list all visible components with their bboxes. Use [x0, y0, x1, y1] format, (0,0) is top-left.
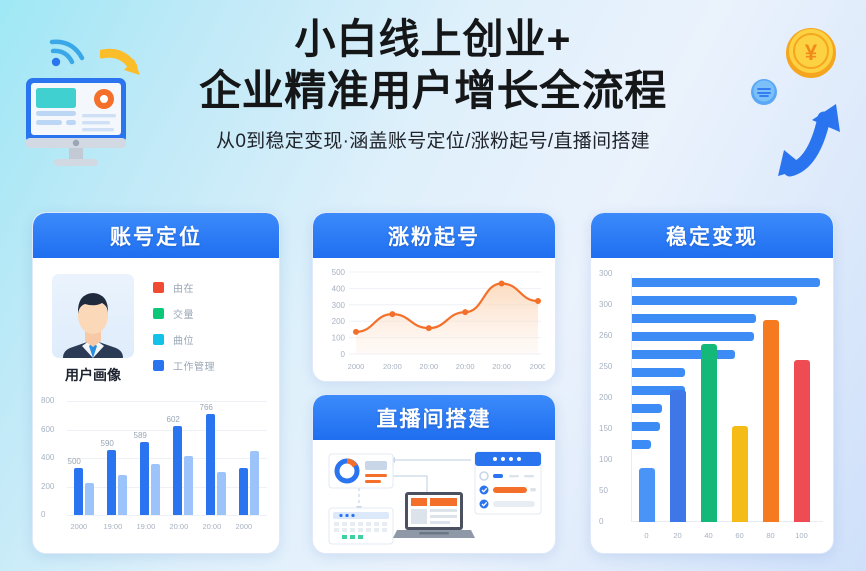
- svg-text:200: 200: [332, 317, 346, 326]
- x-axis-tick: 20: [668, 531, 688, 540]
- blue-double-arrow-icon: [774, 98, 846, 182]
- bar: [239, 468, 248, 515]
- card-header-monetize: 稳定变现: [591, 213, 833, 258]
- y-axis-tick: 800: [41, 396, 54, 405]
- x-axis-tick: 2000: [236, 522, 253, 531]
- legend-account: 由在 交量 曲位 工作管理: [139, 274, 215, 385]
- card-body-live: [313, 448, 555, 546]
- card-header-growth: 涨粉起号: [313, 213, 555, 258]
- vertical-bar: [701, 344, 717, 522]
- y-axis-tick: 0: [41, 510, 45, 519]
- card-account-positioning[interactable]: 账号定位 用户画像: [32, 212, 280, 554]
- legend-label: 由在: [173, 280, 194, 295]
- x-axis-tick: 0: [637, 531, 657, 540]
- y-axis-line: [631, 274, 632, 522]
- vertical-bar: [639, 468, 655, 522]
- horizontal-bar: [632, 404, 662, 413]
- bar-value-label: 500: [68, 457, 81, 466]
- hero-header: 小白线上创业+ 企业精准用户增长全流程 从0到稳定变现·涵盖账号定位/涨粉起号/…: [0, 14, 866, 153]
- x-axis-tick: 40: [699, 531, 719, 540]
- horizontal-bar: [632, 296, 797, 305]
- vertical-bar: [794, 360, 810, 522]
- legend-swatch-icon: [153, 308, 164, 319]
- bar: [118, 475, 127, 515]
- poster-canvas: 小白线上创业+ 企业精准用户增长全流程 从0到稳定变现·涵盖账号定位/涨粉起号/…: [0, 0, 866, 571]
- x-axis-tick: 19:00: [104, 522, 123, 531]
- avatar: [52, 274, 134, 358]
- horizontal-bar: [632, 422, 660, 431]
- y-axis-tick: 50: [599, 486, 608, 495]
- card-header-live: 直播间搭建: [313, 395, 555, 440]
- y-axis-tick: 250: [599, 362, 612, 371]
- horizontal-bar: [632, 332, 754, 341]
- card-title-growth: 涨粉起号: [388, 221, 480, 251]
- vertical-bar: [670, 390, 686, 522]
- x-axis-tick: 2000: [71, 522, 88, 531]
- svg-text:300: 300: [332, 301, 346, 310]
- wifi-broadcast-icon: [48, 36, 88, 70]
- legend-swatch-icon: [153, 334, 164, 345]
- gridline: [67, 515, 267, 516]
- page-subtitle: 从0到稳定变现·涵盖账号定位/涨粉起号/直播间搭建: [0, 126, 866, 153]
- card-title-account: 账号定位: [110, 221, 202, 251]
- card-monetization[interactable]: 稳定变现 05010015020025026030030002040608010…: [590, 212, 834, 554]
- avatar-block: 用户画像: [47, 274, 139, 385]
- svg-text:100: 100: [332, 334, 346, 343]
- chart-growth-line: 0100200300400500200020:0020:0020:0020:00…: [323, 266, 545, 374]
- card-body-growth: 0100200300400500200020:0020:0020:0020:00…: [313, 266, 555, 374]
- desktop-monitor-icon: [24, 76, 128, 168]
- svg-text:20:00: 20:00: [419, 362, 438, 371]
- bar: [250, 451, 259, 515]
- gridline: [67, 430, 267, 431]
- svg-text:2000: 2000: [348, 362, 365, 371]
- y-axis-tick: 600: [41, 425, 54, 434]
- svg-text:20:00: 20:00: [383, 362, 402, 371]
- persona-section: 用户画像 由在 交量 曲位: [33, 258, 279, 389]
- bar-value-label: 590: [101, 439, 114, 448]
- vertical-bar: [732, 426, 748, 522]
- avatar-label: 用户画像: [47, 365, 139, 385]
- x-axis-tick: 100: [792, 531, 812, 540]
- svg-text:400: 400: [332, 284, 346, 293]
- y-axis-tick: 400: [41, 453, 54, 462]
- bar-value-label: 589: [134, 431, 147, 440]
- svg-text:2000: 2000: [530, 362, 545, 371]
- y-axis-tick: 300: [599, 300, 612, 309]
- horizontal-bar: [632, 350, 735, 359]
- bar: [74, 468, 83, 515]
- y-axis-tick: 200: [41, 482, 54, 491]
- legend-label: 曲位: [173, 332, 194, 347]
- card-title-live: 直播间搭建: [377, 403, 492, 433]
- svg-text:20:00: 20:00: [492, 362, 511, 371]
- bar: [206, 414, 215, 515]
- bar-value-label: 602: [167, 415, 180, 424]
- legend-item: 工作管理: [153, 358, 215, 373]
- legend-item: 曲位: [153, 332, 215, 347]
- growth-line-svg: 0100200300400500200020:0020:0020:0020:00…: [323, 266, 545, 374]
- legend-item: 由在: [153, 280, 215, 295]
- card-follower-growth[interactable]: 涨粉起号 0100200300400500200020:0020:0020:00…: [312, 212, 556, 382]
- yuan-coin-icon: ¥: [784, 26, 838, 80]
- gridline: [67, 487, 267, 488]
- gridline: [67, 458, 267, 459]
- card-header-account: 账号定位: [33, 213, 279, 258]
- workflow-diagram-icon: [323, 448, 547, 546]
- bar: [85, 483, 94, 515]
- y-axis-tick: 260: [599, 331, 612, 340]
- y-axis-tick: 300: [599, 269, 612, 278]
- chart-account-bars: 0200400600800500200059019:0058919:006022…: [41, 395, 271, 533]
- svg-text:20:00: 20:00: [456, 362, 475, 371]
- gridline: [67, 401, 267, 402]
- card-live-room-setup[interactable]: 直播间搭建: [312, 394, 556, 554]
- bar: [173, 426, 182, 515]
- bar: [184, 456, 193, 515]
- y-axis-tick: 150: [599, 424, 612, 433]
- horizontal-bar: [632, 278, 820, 287]
- legend-swatch-icon: [153, 282, 164, 293]
- bar: [217, 472, 226, 515]
- bar: [140, 442, 149, 515]
- x-axis-tick: 20:00: [203, 522, 222, 531]
- legend-label: 工作管理: [173, 358, 215, 373]
- y-axis-tick: 100: [599, 455, 612, 464]
- x-axis-tick: 60: [730, 531, 750, 540]
- bar: [107, 450, 116, 515]
- bar-value-label: 766: [200, 403, 213, 412]
- x-axis-tick: 20:00: [170, 522, 189, 531]
- x-axis-tick: 80: [761, 531, 781, 540]
- card-body-monetize: 050100150200250260300300020406080100: [591, 268, 833, 548]
- legend-label: 交量: [173, 306, 194, 321]
- card-body-account: 用户画像 由在 交量 曲位: [33, 258, 279, 533]
- chart-monetization: 050100150200250260300300020406080100: [597, 268, 827, 548]
- horizontal-bar: [632, 440, 651, 449]
- legend-item: 交量: [153, 306, 215, 321]
- legend-swatch-icon: [153, 360, 164, 371]
- card-title-monetize: 稳定变现: [666, 221, 758, 251]
- live-workflow-illustration: [323, 448, 545, 546]
- user-portrait-icon: [52, 274, 134, 358]
- svg-text:0: 0: [341, 350, 346, 359]
- bar: [151, 464, 160, 515]
- y-axis-tick: 200: [599, 393, 612, 402]
- vertical-bar: [763, 320, 779, 522]
- y-axis-tick: 0: [599, 517, 603, 526]
- horizontal-bar: [632, 314, 756, 323]
- x-axis-tick: 19:00: [137, 522, 156, 531]
- svg-text:500: 500: [332, 268, 346, 277]
- horizontal-bar: [632, 368, 685, 377]
- coin-symbol: ¥: [805, 40, 818, 65]
